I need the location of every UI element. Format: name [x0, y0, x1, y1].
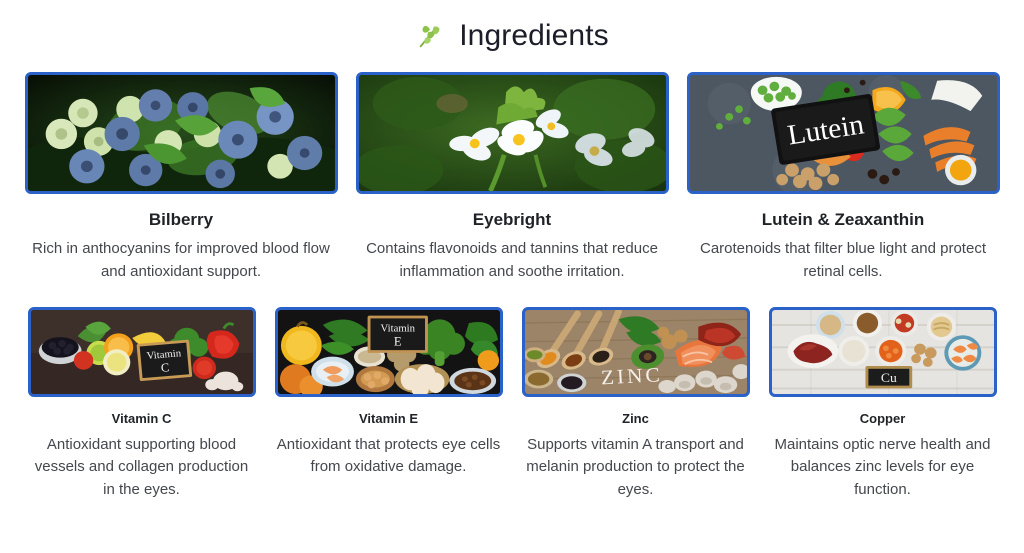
bilberry-image	[25, 72, 338, 194]
ingredient-card-zinc[interactable]: ZINC Zinc Supports vitamin A transport a…	[522, 307, 750, 502]
ingredient-description: Rich in anthocyanins for improved blood …	[25, 238, 338, 284]
copper-image: Cu	[769, 307, 997, 397]
lutein-image: Lutein	[687, 72, 1000, 194]
vitamin-c-image: Vitamin C	[28, 307, 256, 397]
ingredient-title: Copper	[860, 411, 906, 426]
svg-text:C: C	[160, 360, 170, 374]
ingredient-card-copper[interactable]: Cu Copper Maintains optic nerve health a…	[769, 307, 997, 502]
ingredient-card-vitamin-e[interactable]: Vitamin E Vitamin E Antioxidant that pro…	[275, 307, 503, 502]
herb-leaf-icon	[415, 21, 445, 51]
svg-text:Vitamin: Vitamin	[380, 323, 415, 334]
ingredient-title: Vitamin E	[359, 411, 418, 426]
zinc-image: ZINC	[522, 307, 750, 397]
ingredient-title: Bilberry	[149, 210, 213, 230]
ingredient-title: Eyebright	[473, 210, 551, 230]
ingredient-title: Vitamin C	[112, 411, 172, 426]
ingredient-row-secondary: Vitamin C Vitamin C Antioxidant supporti…	[0, 307, 1024, 502]
ingredient-description: Supports vitamin A transport and melanin…	[522, 434, 750, 502]
ingredient-card-eyebright[interactable]: Eyebright Contains flavonoids and tannin…	[356, 72, 669, 284]
ingredient-description: Contains flavonoids and tannins that red…	[356, 238, 669, 284]
ingredient-description: Carotenoids that filter blue light and p…	[687, 238, 1000, 284]
page-title: Ingredients	[0, 0, 1024, 72]
ingredient-card-vitamin-c[interactable]: Vitamin C Vitamin C Antioxidant supporti…	[28, 307, 256, 502]
ingredient-card-lutein[interactable]: Lutein Lutein & Zeaxanthin Carotenoids t…	[687, 72, 1000, 284]
svg-text:ZINC: ZINC	[600, 362, 663, 389]
ingredient-description: Antioxidant supporting blood vessels and…	[28, 434, 256, 502]
eyebright-image	[356, 72, 669, 194]
ingredient-title: Zinc	[622, 411, 649, 426]
ingredient-card-bilberry[interactable]: Bilberry Rich in anthocyanins for improv…	[25, 72, 338, 284]
ingredient-row-primary: Bilberry Rich in anthocyanins for improv…	[0, 72, 1024, 284]
ingredient-description: Antioxidant that protects eye cells from…	[275, 434, 503, 480]
svg-text:Cu: Cu	[880, 370, 896, 385]
page-title-text: Ingredients	[459, 19, 609, 53]
ingredient-title: Lutein & Zeaxanthin	[762, 210, 924, 230]
svg-text:E: E	[393, 334, 401, 348]
ingredient-description: Maintains optic nerve health and balance…	[769, 434, 997, 502]
vitamin-e-image: Vitamin E	[275, 307, 503, 397]
